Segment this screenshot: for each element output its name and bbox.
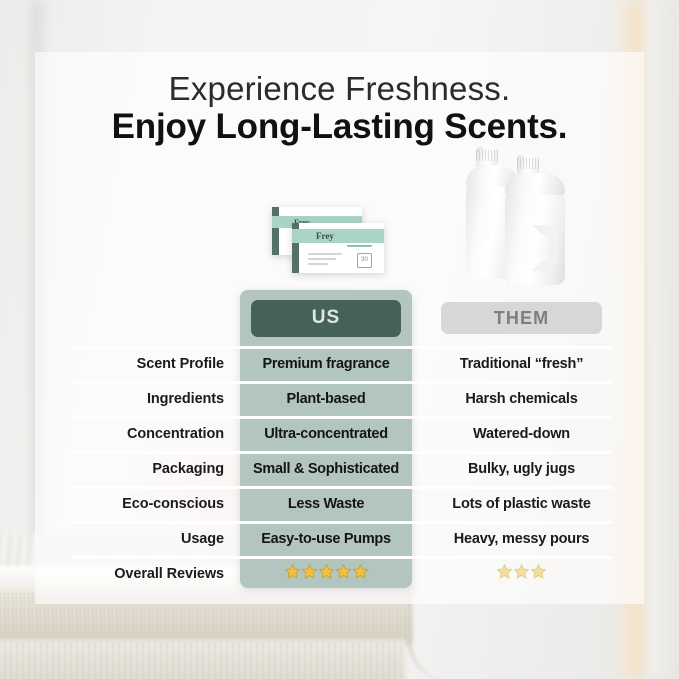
detergent-jug-front-handle — [532, 225, 558, 271]
row-value-us: Small & Sophisticated — [240, 461, 412, 477]
headline-line-1: Experience Freshness. — [0, 72, 679, 107]
frey-box-front-seal: 30 — [357, 253, 372, 268]
row-value-them: Watered-down — [424, 426, 619, 442]
promo-graphic: Experience Freshness. Enjoy Long-Lasting… — [0, 0, 679, 679]
frey-box-front-copy — [308, 253, 342, 268]
table-row: Scent ProfilePremium fragranceTraditiona… — [0, 346, 679, 381]
star-icon — [513, 563, 530, 580]
headline-line-2: Enjoy Long-Lasting Scents. — [0, 107, 679, 146]
frey-box-front: Frey 30 — [292, 223, 384, 273]
comparison-table: US THEM Scent ProfilePremium fragranceTr… — [0, 290, 679, 591]
row-divider — [72, 346, 613, 349]
row-label: Scent Profile — [0, 356, 240, 372]
row-value-us: Easy-to-use Pumps — [240, 531, 412, 547]
overall-reviews-row: Overall Reviews — [0, 556, 679, 591]
product-imagery: Frey Frey 30 — [0, 155, 679, 290]
row-value-us: Ultra-concentrated — [240, 426, 412, 442]
star-icon — [496, 563, 513, 580]
row-divider — [72, 416, 613, 419]
row-label: Usage — [0, 531, 240, 547]
row-value-them: Lots of plastic waste — [424, 496, 619, 512]
table-row: PackagingSmall & SophisticatedBulky, ugl… — [0, 451, 679, 486]
star-icon — [318, 563, 335, 580]
star-icon — [335, 563, 352, 580]
row-label: Eco-conscious — [0, 496, 240, 512]
row-label: Ingredients — [0, 391, 240, 407]
star-icon — [352, 563, 369, 580]
row-value-us: Less Waste — [240, 496, 412, 512]
row-value-them: Traditional “fresh” — [424, 356, 619, 372]
star-icon — [284, 563, 301, 580]
star-icon — [301, 563, 318, 580]
star-icon — [530, 563, 547, 580]
them-badge-wrap: THEM — [424, 302, 619, 334]
row-value-us: Premium fragrance — [240, 356, 412, 372]
table-row: ConcentrationUltra-concentratedWatered-d… — [0, 416, 679, 451]
frey-box-front-brand: Frey — [316, 231, 334, 241]
comparison-rows: Scent ProfilePremium fragranceTraditiona… — [0, 346, 679, 556]
row-label: Concentration — [0, 426, 240, 442]
headline: Experience Freshness. Enjoy Long-Lasting… — [0, 72, 679, 146]
row-value-them: Heavy, messy pours — [424, 531, 619, 547]
row-divider — [72, 556, 613, 559]
row-divider — [72, 381, 613, 384]
detergent-jug-front-shoulder — [505, 173, 565, 195]
background-bed-base-weave — [0, 642, 401, 679]
reviews-row-label: Overall Reviews — [0, 566, 240, 582]
row-divider — [72, 521, 613, 524]
row-value-us: Plant-based — [240, 391, 412, 407]
row-value-them: Harsh chemicals — [424, 391, 619, 407]
row-label: Packaging — [0, 461, 240, 477]
frey-box-back-spine — [272, 207, 279, 255]
frey-box-front-tagline — [347, 245, 372, 247]
us-star-rating — [240, 563, 412, 584]
row-value-them: Bulky, ugly jugs — [424, 461, 619, 477]
frey-box-front-band — [292, 229, 384, 243]
them-badge: THEM — [441, 302, 602, 334]
row-divider — [72, 486, 613, 489]
table-row: Eco-consciousLess WasteLots of plastic w… — [0, 486, 679, 521]
table-row: UsageEasy-to-use PumpsHeavy, messy pours — [0, 521, 679, 556]
table-row: IngredientsPlant-basedHarsh chemicals — [0, 381, 679, 416]
us-badge: US — [251, 300, 401, 337]
detergent-jug-front — [505, 189, 565, 285]
comparison-header-row: US THEM — [0, 290, 679, 346]
row-divider — [72, 451, 613, 454]
them-star-rating — [424, 563, 619, 584]
